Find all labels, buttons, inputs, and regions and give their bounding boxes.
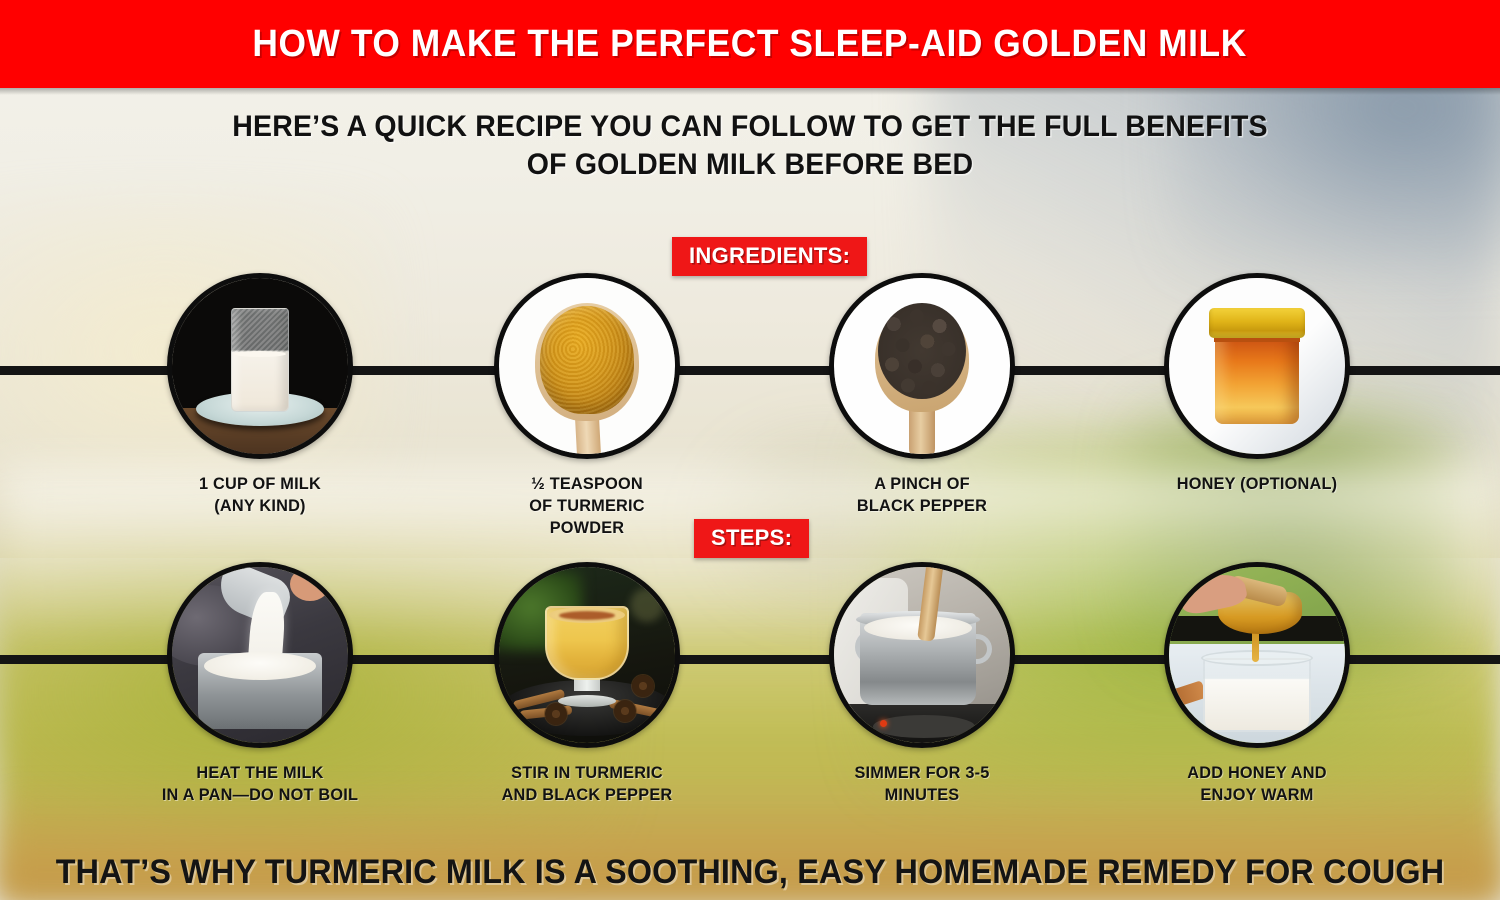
step-item-stir-spices: STIR IN TURMERIC AND BLACK PEPPER <box>482 562 692 806</box>
header-shadow <box>0 88 1500 95</box>
honey-drizzle-icon <box>1164 562 1350 748</box>
subtitle: HERE’S A QUICK RECIPE YOU CAN FOLLOW TO … <box>38 108 1463 185</box>
step-caption-stir-spices: STIR IN TURMERIC AND BLACK PEPPER <box>486 762 688 806</box>
caption-line: A PINCH OF <box>821 473 1023 495</box>
caption-line: IN A PAN—DO NOT BOIL <box>159 784 361 806</box>
footer-tagline: THAT’S WHY TURMERIC MILK IS A SOOTHING, … <box>38 853 1463 892</box>
caption-line: OF TURMERIC <box>486 495 688 517</box>
step-caption-simmer: SIMMER FOR 3-5 MINUTES <box>821 762 1023 806</box>
caption-line: BLACK PEPPER <box>821 495 1023 517</box>
golden-milk-glass-icon <box>494 562 680 748</box>
ingredient-caption-honey: HONEY (OPTIONAL) <box>1156 473 1358 495</box>
step-item-heat-milk: HEAT THE MILK IN A PAN—DO NOT BOIL <box>155 562 365 806</box>
ingredient-caption-black-pepper: A PINCH OF BLACK PEPPER <box>821 473 1023 517</box>
simmering-pot-icon <box>829 562 1015 748</box>
subtitle-line-2: OF GOLDEN MILK BEFORE BED <box>38 146 1463 184</box>
glass-of-milk-icon <box>167 273 353 459</box>
caption-line: MINUTES <box>821 784 1023 806</box>
honey-jar-icon <box>1164 273 1350 459</box>
caption-line: ENJOY WARM <box>1156 784 1358 806</box>
step-caption-add-honey: ADD HONEY AND ENJOY WARM <box>1156 762 1358 806</box>
caption-line: ADD HONEY AND <box>1156 762 1358 784</box>
step-item-add-honey: ADD HONEY AND ENJOY WARM <box>1152 562 1362 806</box>
subtitle-line-1: HERE’S A QUICK RECIPE YOU CAN FOLLOW TO … <box>232 110 1268 143</box>
caption-line: HONEY (OPTIONAL) <box>1156 473 1358 495</box>
ingredient-item-milk: 1 CUP OF MILK (ANY KIND) <box>155 273 365 517</box>
caption-line: HEAT THE MILK <box>159 762 361 784</box>
ingredients-section-badge: INGREDIENTS: <box>672 237 867 276</box>
ingredient-item-black-pepper: A PINCH OF BLACK PEPPER <box>817 273 1027 517</box>
caption-line: ½ TEASPOON <box>486 473 688 495</box>
caption-line: (ANY KIND) <box>159 495 361 517</box>
ingredient-item-turmeric: ½ TEASPOON OF TURMERIC POWDER <box>482 273 692 539</box>
caption-line: AND BLACK PEPPER <box>486 784 688 806</box>
ingredient-caption-milk: 1 CUP OF MILK (ANY KIND) <box>159 473 361 517</box>
ingredient-caption-turmeric: ½ TEASPOON OF TURMERIC POWDER <box>486 473 688 539</box>
caption-line: POWDER <box>486 517 688 539</box>
page-title: HOW TO MAKE THE PERFECT SLEEP-AID GOLDEN… <box>253 23 1247 66</box>
ingredient-item-honey: HONEY (OPTIONAL) <box>1152 273 1362 495</box>
step-item-simmer: SIMMER FOR 3-5 MINUTES <box>817 562 1027 806</box>
header-banner: HOW TO MAKE THE PERFECT SLEEP-AID GOLDEN… <box>0 0 1500 88</box>
step-caption-heat-milk: HEAT THE MILK IN A PAN—DO NOT BOIL <box>159 762 361 806</box>
black-peppercorns-spoon-icon <box>829 273 1015 459</box>
caption-line: STIR IN TURMERIC <box>486 762 688 784</box>
pouring-milk-into-pan-icon <box>167 562 353 748</box>
caption-line: 1 CUP OF MILK <box>159 473 361 495</box>
turmeric-powder-spoon-icon <box>494 273 680 459</box>
steps-section-badge: STEPS: <box>694 519 809 558</box>
caption-line: SIMMER FOR 3-5 <box>821 762 1023 784</box>
